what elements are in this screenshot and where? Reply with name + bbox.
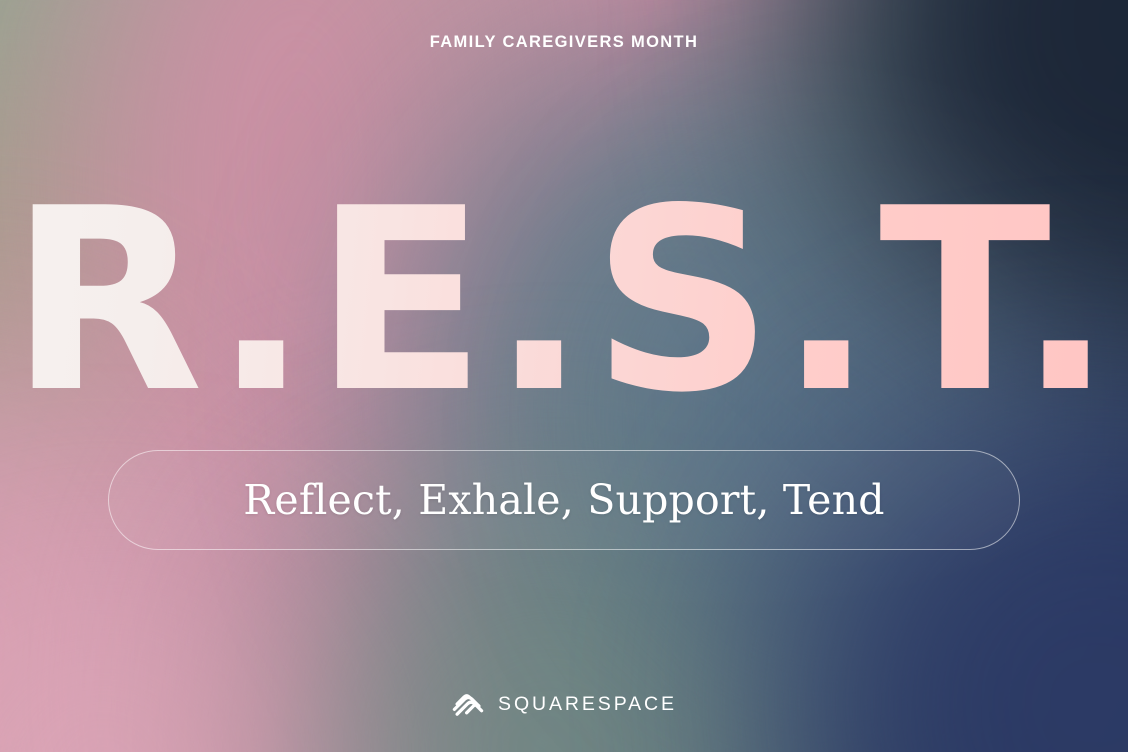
poster-content: FAMILY CAREGIVERS MONTH R.E.S.T. Reflect… [0,0,1128,752]
squarespace-logo-icon [451,688,485,722]
eyebrow-label: FAMILY CAREGIVERS MONTH [0,34,1128,51]
poster-canvas: FAMILY CAREGIVERS MONTH R.E.S.T. Reflect… [0,0,1128,752]
brand-name: SQUARESPACE [498,695,677,715]
subtitle-capsule: Reflect, Exhale, Support, Tend [108,450,1020,550]
brand-lockup: SQUARESPACE [0,688,1128,722]
headline-container: R.E.S.T. [0,176,1128,406]
page-title: R.E.S.T. [10,176,1119,428]
subtitle-text: Reflect, Exhale, Support, Tend [243,480,884,521]
